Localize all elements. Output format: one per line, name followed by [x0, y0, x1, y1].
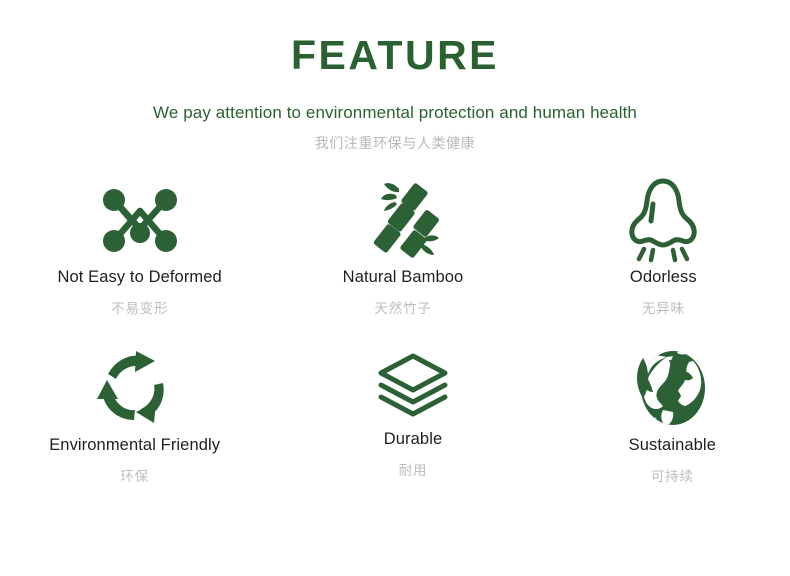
nose-icon — [626, 174, 700, 266]
feature-label-en: Environmental Friendly — [49, 436, 220, 456]
subtitle-chinese: 我们注重环保与人类健康 — [0, 135, 790, 152]
feature-label-en: Sustainable — [629, 436, 716, 456]
feature-item-environmental-friendly[interactable]: Environmental Friendly 环保 — [3, 342, 266, 512]
feature-label-cn: 可持续 — [651, 469, 694, 485]
feature-grid: Not Easy to Deformed 不易变形 — [0, 174, 790, 512]
feature-item-durable[interactable]: Durable 耐用 — [281, 342, 544, 512]
feature-label-cn: 天然竹子 — [374, 301, 431, 317]
feature-label-en: Not Easy to Deformed — [58, 268, 222, 288]
feature-item-natural-bamboo[interactable]: Natural Bamboo 天然竹子 — [271, 174, 534, 342]
feature-label-cn: 不易变形 — [111, 301, 168, 317]
bamboo-icon — [366, 174, 440, 266]
feature-item-not-easy-to-deformed[interactable]: Not Easy to Deformed 不易变形 — [8, 174, 271, 342]
molecule-structure-icon — [101, 174, 179, 266]
feature-row-1: Not Easy to Deformed 不易变形 — [0, 174, 790, 342]
layers-stack-icon — [376, 342, 450, 428]
feature-label-cn: 环保 — [120, 469, 149, 485]
globe-leaf-icon — [633, 342, 711, 434]
page-title: FEATURE — [0, 34, 790, 77]
feature-label-en: Natural Bamboo — [343, 268, 464, 288]
feature-label-cn: 耐用 — [399, 463, 428, 479]
feature-row-2: Environmental Friendly 环保 Durable 耐用 — [0, 342, 790, 512]
feature-label-en: Odorless — [630, 268, 697, 288]
feature-item-sustainable[interactable]: Sustainable 可持续 — [541, 342, 790, 512]
feature-section: FEATURE We pay attention to environmenta… — [0, 0, 790, 576]
subtitle-english: We pay attention to environmental protec… — [0, 103, 790, 123]
feature-item-odorless[interactable]: Odorless 无异味 — [532, 174, 790, 342]
recycle-icon — [95, 342, 175, 434]
feature-label-cn: 无异味 — [642, 301, 685, 317]
feature-label-en: Durable — [384, 430, 442, 450]
section-header: FEATURE We pay attention to environmenta… — [0, 0, 790, 152]
